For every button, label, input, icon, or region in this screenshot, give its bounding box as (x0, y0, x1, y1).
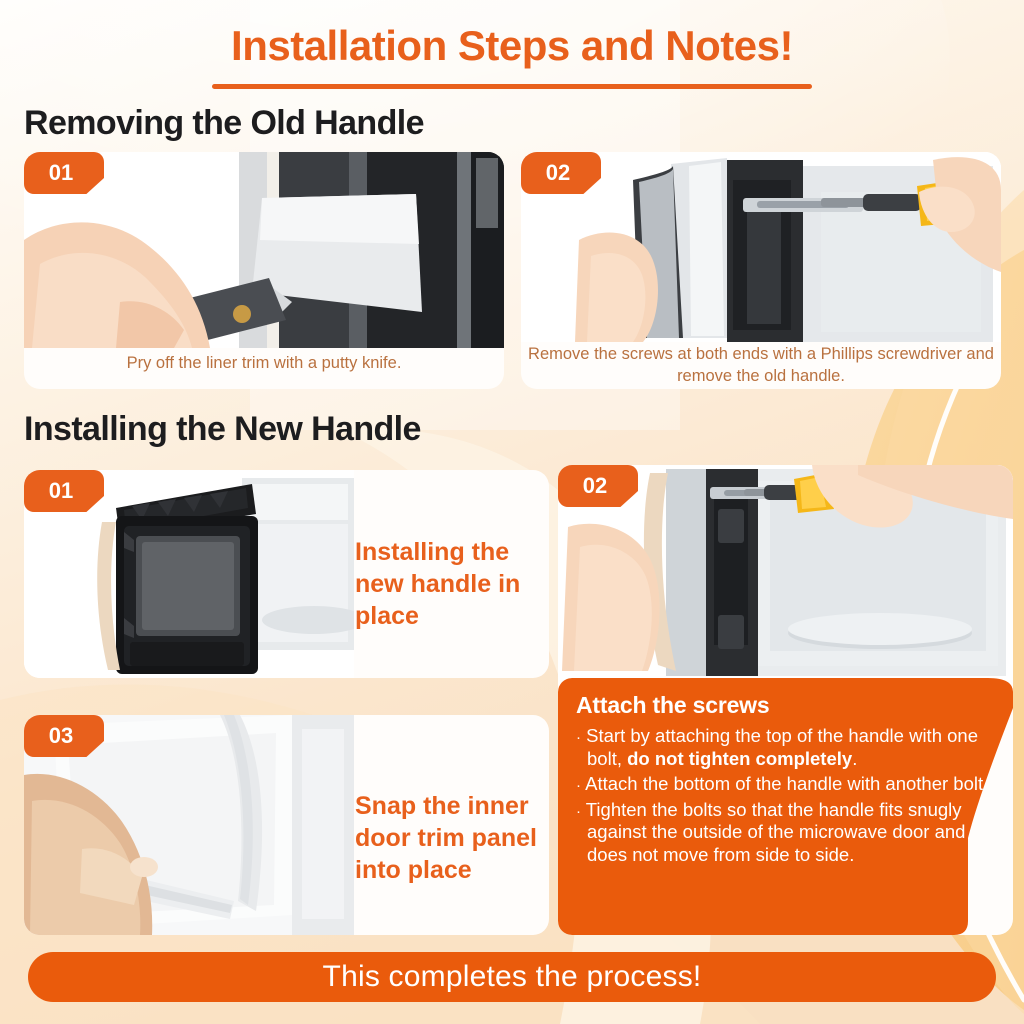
step-badge-remove-01: 01 (24, 152, 104, 194)
note-panel: Attach the screws · Start by attaching t… (558, 678, 1013, 935)
step-caption-remove-02: Remove the screws at both ends with a Ph… (521, 343, 1001, 388)
step-badge-install-03: 03 (24, 715, 104, 757)
page-title: Installation Steps and Notes! (0, 22, 1024, 70)
title-underline (212, 84, 812, 89)
step-badge-install-01: 01 (24, 470, 104, 512)
step-caption-remove-01: Pry off the liner trim with a putty knif… (24, 352, 504, 374)
note-bullet-1-bold: do not tighten completely (627, 748, 852, 769)
note-bullet-2-text: Attach the bottom of the handle with ano… (581, 773, 988, 794)
step-badge-remove-02: 02 (521, 152, 601, 194)
step-side-text-install-03: Snap the inner door trim panel into plac… (355, 790, 555, 886)
note-bullet-3-text: Tighten the bolts so that the handle fit… (581, 799, 965, 865)
step-side-text-install-01: Installing the new handle in place (355, 536, 545, 632)
section-heading-installing: Installing the New Handle (24, 410, 421, 449)
note-bullet-1: · Start by attaching the top of the hand… (576, 725, 995, 770)
section-heading-removing: Removing the Old Handle (24, 104, 424, 143)
completion-banner: This completes the process! (28, 952, 996, 1002)
note-bullet-1-tail: . (852, 748, 857, 769)
note-panel-title: Attach the screws (576, 692, 995, 719)
step-badge-install-02: 02 (558, 465, 638, 507)
note-bullet-3: · Tighten the bolts so that the handle f… (576, 799, 995, 867)
note-bullet-2: · Attach the bottom of the handle with a… (576, 773, 995, 796)
